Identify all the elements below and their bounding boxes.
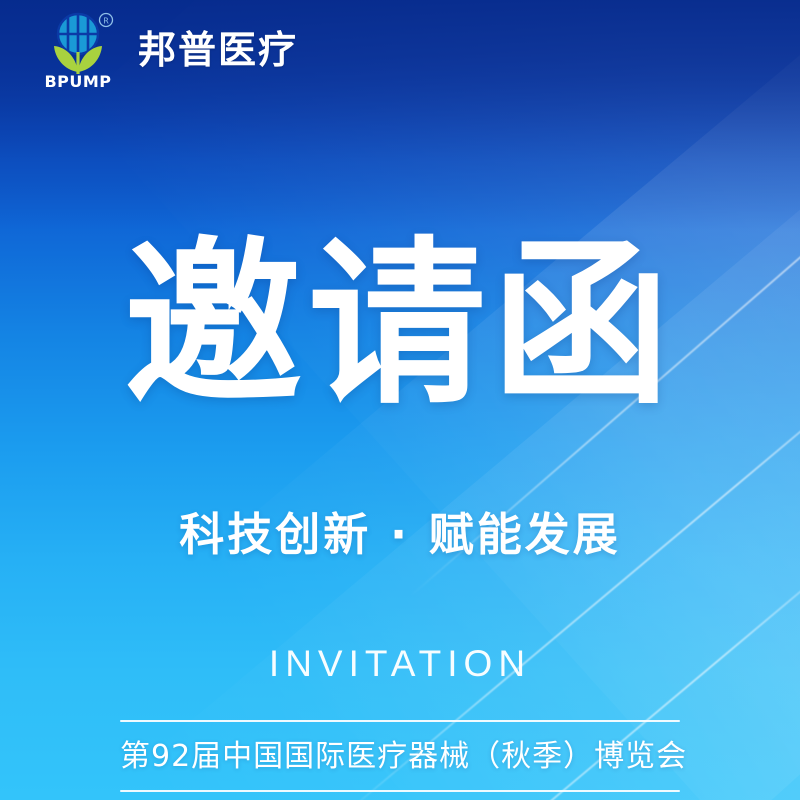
poster-footer: 第92届中国国际医疗器械（秋季）博览会: [120, 720, 680, 792]
event-name-label: 第92届中国国际医疗器械（秋季）博览会: [120, 722, 680, 790]
bpump-wordmark: BPUMP: [44, 72, 111, 90]
registered-trademark-icon: R: [100, 14, 113, 27]
svg-text:R: R: [103, 16, 109, 25]
brand-name-label: 邦普医疗: [138, 31, 298, 69]
bpump-flower-logo: R BPUMP: [42, 10, 120, 90]
invitation-poster: R BPUMP 邦普医疗 邀请函 科技创新 · 赋能发展 INVITATION …: [0, 0, 800, 800]
poster-subtitle: 科技创新 · 赋能发展: [0, 508, 800, 562]
invitation-english-label: INVITATION: [0, 645, 800, 682]
footer-rule-bottom: [120, 790, 680, 792]
poster-header: R BPUMP 邦普医疗: [0, 0, 800, 100]
page-title: 邀请函: [0, 236, 800, 414]
